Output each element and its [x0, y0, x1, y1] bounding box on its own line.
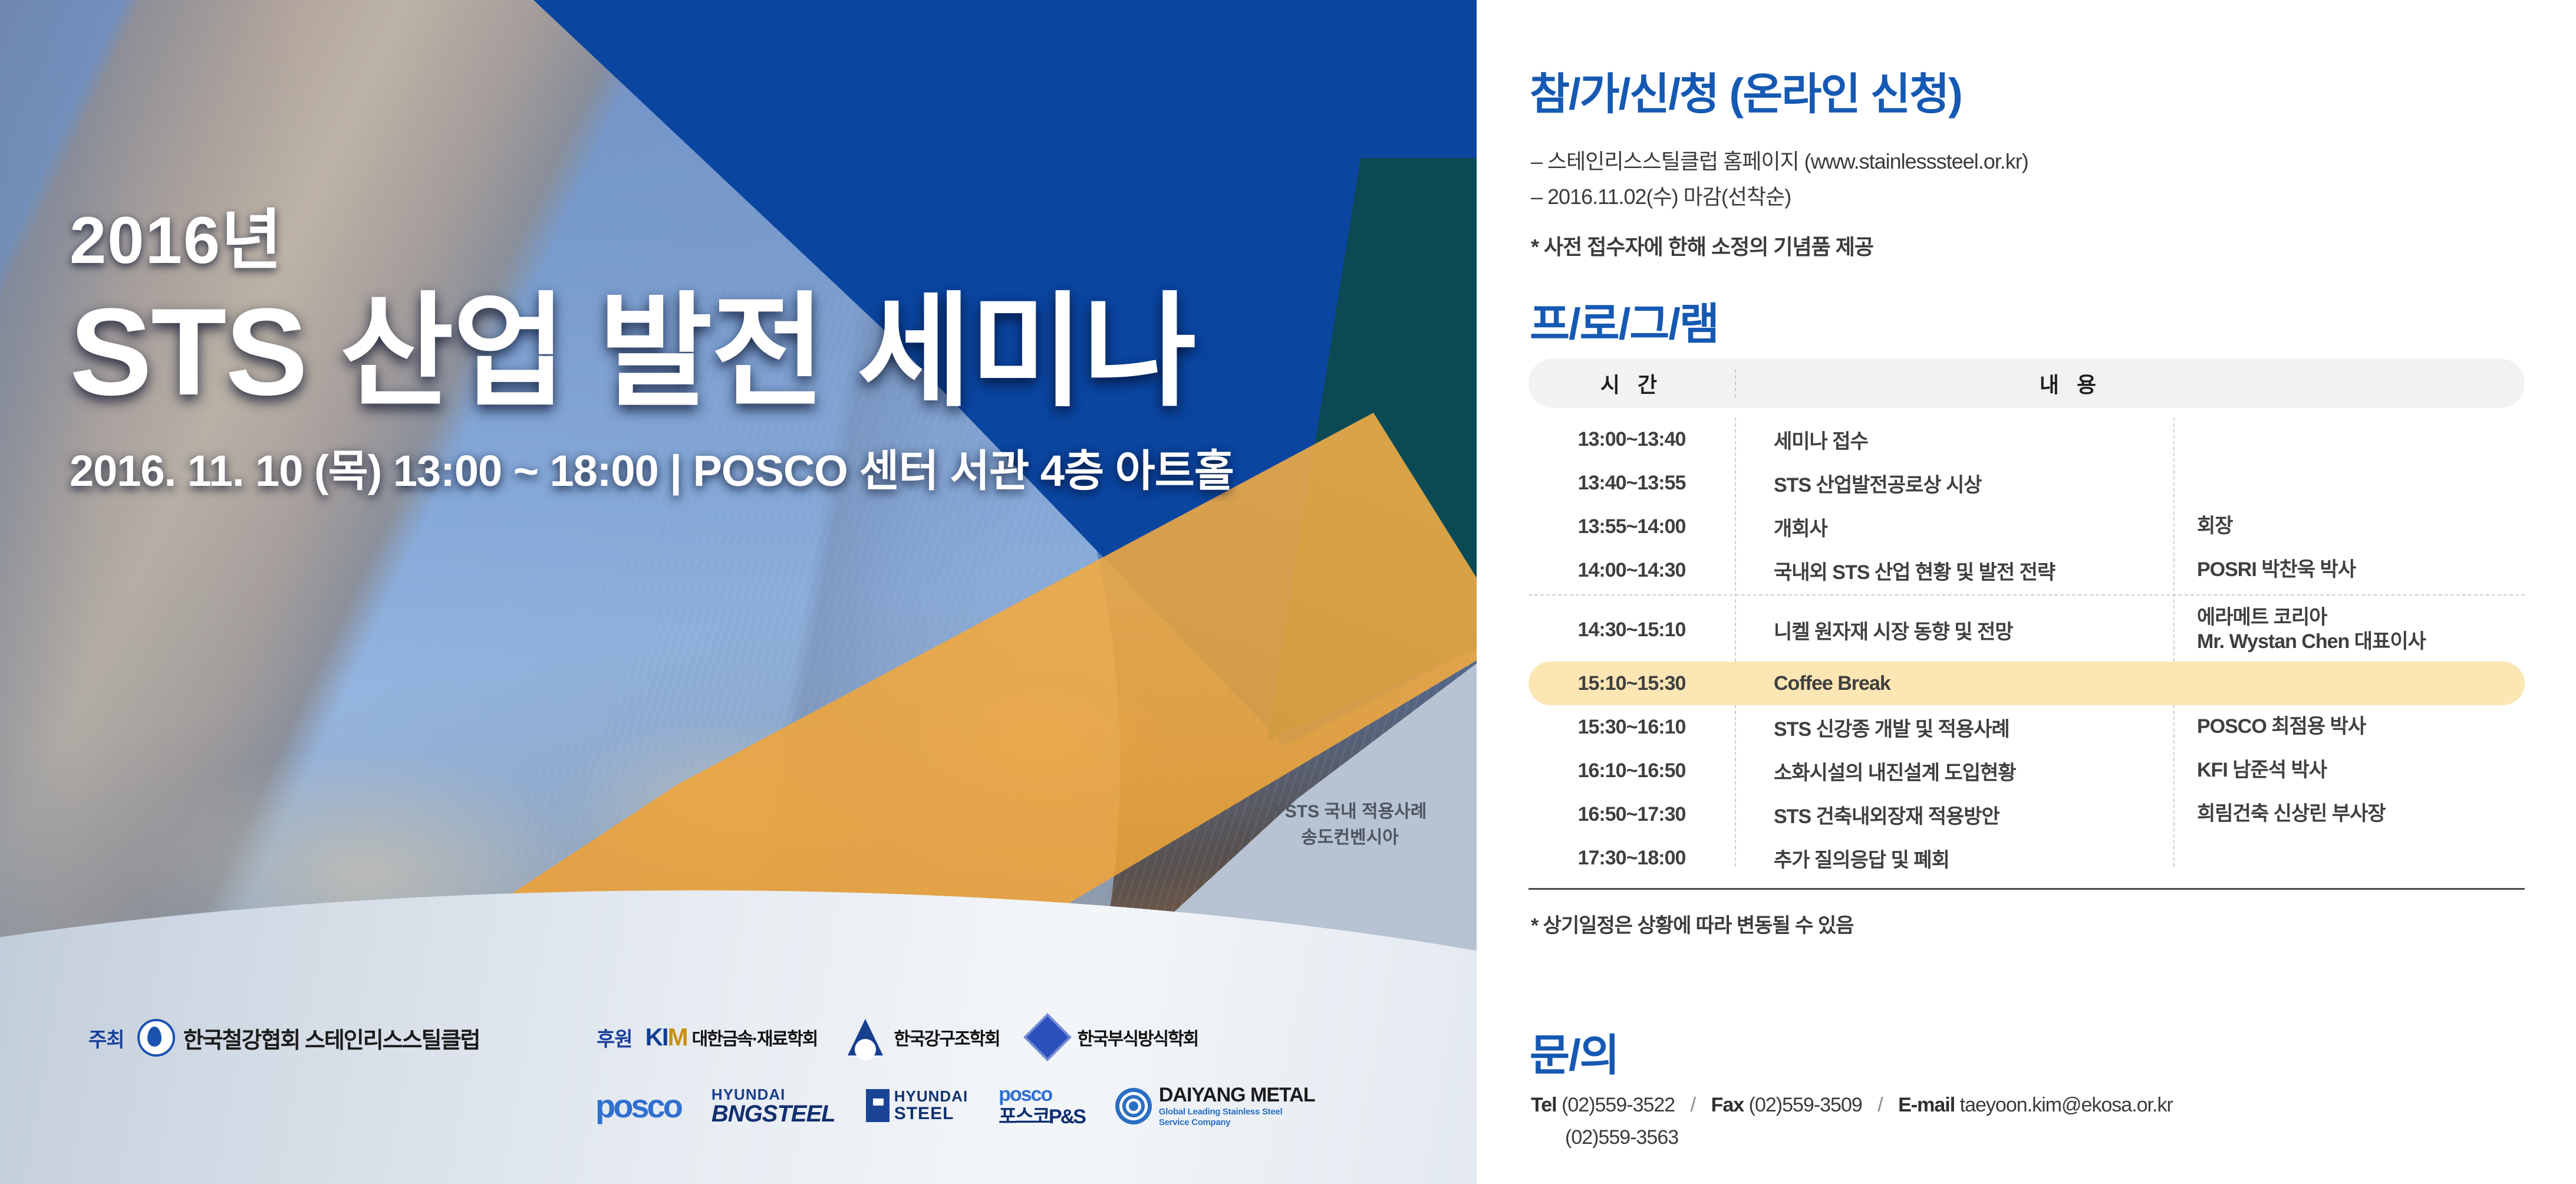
row-speaker: 에라메트 코리아Mr. Wystan Chen 대표이사: [2173, 606, 2525, 655]
hero-title-block: 2016년 STS 산업 발전 세미나 2016. 11. 10 (목) 13:…: [70, 208, 1366, 499]
contact-heading: 문/의: [1530, 1020, 1619, 1083]
column-header-content: 내 용: [1735, 368, 2525, 399]
row-description: 세미나 접수: [1735, 425, 2173, 454]
logo-daiyang-name: DAIYANG METAL: [1159, 1084, 1315, 1107]
row-time: 15:10~15:30: [1529, 672, 1735, 695]
table-row-separator: [1529, 594, 2525, 596]
hero-title: STS 산업 발전 세미나: [70, 287, 1366, 418]
table-row: 15:30~16:10STS 신강종 개발 및 적용사례POSCO 최점용 박사: [1529, 705, 2525, 749]
logo-pns-bottom: 포스코P&S: [999, 1106, 1085, 1128]
logo-pns-top: posco: [999, 1084, 1085, 1106]
daiyang-target-icon: [1115, 1088, 1152, 1124]
logo-posco-pns: posco 포스코P&S: [999, 1084, 1085, 1128]
logo-kim-name: 대한금속·재료학회: [692, 1024, 818, 1050]
table-row: 16:50~17:30STS 건축내외장재 적용방안희림건축 신상린 부사장: [1529, 792, 2525, 836]
tel-label: Tel: [1531, 1094, 1557, 1116]
tel-value: (02)559-3522: [1562, 1094, 1675, 1116]
table-row: 13:40~13:55STS 산업발전공로상 시상: [1529, 461, 2525, 505]
logo-daiyang-tagline-2: Service Company: [1159, 1117, 1315, 1128]
row-speaker: 희림건축 신상린 부사장: [2173, 802, 2525, 826]
kssc-triangle-icon: [848, 1019, 883, 1055]
logo-kim: KIM 대한금속·재료학회: [645, 1023, 818, 1051]
row-time: 16:50~17:30: [1529, 803, 1735, 826]
table-row: 15:10~15:30Coffee Break: [1529, 662, 2525, 705]
row-time: 15:30~16:10: [1529, 716, 1735, 739]
logo-posco-text: posco: [595, 1087, 681, 1125]
contact-line: Tel (02)559-3522 / Fax (02)559-3509 / E-…: [1531, 1094, 2173, 1117]
company-logo-row: posco HYUNDAI BNGSTEEL HYUNDAI STEEL: [595, 1084, 1346, 1128]
program-table-body: 13:00~13:40세미나 접수13:40~13:55STS 산업발전공로상 …: [1529, 417, 2525, 880]
hero-subtitle: 2016. 11. 10 (목) 13:00 ~ 18:00 | POSCO 센…: [70, 436, 1366, 499]
logo-hyundai-steel: HYUNDAI STEEL: [866, 1088, 968, 1123]
fax-label: Fax: [1711, 1094, 1744, 1116]
row-description: STS 신강종 개발 및 적용사례: [1735, 713, 2173, 742]
hero-year: 2016년: [70, 208, 1366, 274]
row-speaker: POSRI 박찬욱 박사: [2173, 558, 2525, 582]
info-panel: 참/가/신/청 (온라인 신청) – 스테인리스스틸클럽 홈페이지 (www.s…: [1477, 0, 2576, 1184]
row-time: 17:30~18:00: [1529, 847, 1735, 870]
photo-caption-line-2: 송도컨벤시아: [1253, 825, 1447, 851]
contact-separator-2: /: [1877, 1094, 1882, 1116]
row-time: 14:00~14:30: [1529, 559, 1735, 582]
logo-bng-steel: HYUNDAI BNGSTEEL: [711, 1087, 835, 1126]
logo-daiyang-tagline-1: Global Leading Stainless Steel: [1159, 1107, 1315, 1117]
apply-heading: 참/가/신/청 (온라인 신청): [1530, 59, 1962, 122]
row-speaker: KFI 남준석 박사: [2173, 758, 2525, 782]
email-value[interactable]: taeyoon.kim@ekosa.or.kr: [1960, 1094, 2173, 1116]
apply-bullet-1: – 스테인리스스틸클럽 홈페이지 (www.stainlesssteel.or.…: [1531, 144, 2028, 175]
table-row: 17:30~18:00추가 질의응답 및 폐회: [1529, 836, 2525, 880]
logo-bng-bottom: BNGSTEEL: [711, 1102, 835, 1126]
row-time: 13:55~14:00: [1529, 515, 1735, 538]
apply-bullet-2: – 2016.11.02(수) 마감(선착순): [1531, 180, 1791, 211]
program-note: * 상기일정은 상황에 따라 변동될 수 있음: [1531, 909, 1853, 938]
row-description: STS 건축내외장재 적용방안: [1735, 800, 2173, 829]
table-row: 14:30~15:10니켈 원자재 시장 동향 및 전망에라메트 코리아Mr. …: [1529, 598, 2525, 662]
logo-kssc: 한국강구조학회: [848, 1019, 999, 1055]
apply-note: * 사전 접수자에 한해 소정의 기념품 제공: [1531, 230, 1873, 261]
program-heading: 프/로/그/램: [1530, 289, 1718, 352]
logo-cssk: 한국부식방식학회: [1030, 1020, 1198, 1054]
email-label: E-mail: [1898, 1094, 1955, 1116]
logo-cssk-name: 한국부식방식학회: [1078, 1024, 1198, 1050]
column-header-time: 시 간: [1529, 368, 1735, 399]
table-row: 16:10~16:50소화시설의 내진설계 도입현황KFI 남준석 박사: [1529, 749, 2525, 792]
poster-root: 2016년 STS 산업 발전 세미나 2016. 11. 10 (목) 13:…: [0, 0, 2576, 1184]
photo-caption: * STS 국내 적용사례 송도컨벤시아: [1253, 799, 1447, 850]
support-label: 후원: [597, 1023, 633, 1052]
host-label: 주최: [88, 1024, 124, 1053]
logo-hyundai-top: HYUNDAI: [894, 1088, 968, 1104]
row-speaker: 회장: [2173, 514, 2525, 538]
hyundai-h-icon: [866, 1089, 890, 1122]
host-row: 주최 한국철강협회 스테인리스스틸클럽: [88, 1019, 480, 1057]
logo-hyundai-bottom: STEEL: [894, 1104, 968, 1123]
host-name: 한국철강협회 스테인리스스틸클럽: [183, 1022, 480, 1054]
logo-posco: posco: [595, 1087, 681, 1125]
logo-kssc-name: 한국강구조학회: [894, 1024, 999, 1050]
table-bottom-rule: [1529, 888, 2525, 890]
photo-caption-line-1: * STS 국내 적용사례: [1253, 799, 1447, 825]
tel-secondary: (02)559-3563: [1565, 1126, 1678, 1149]
program-table-header: 시 간 내 용: [1529, 359, 2525, 408]
contact-separator-1: /: [1691, 1094, 1695, 1116]
row-description: 니켈 원자재 시장 동향 및 전망: [1735, 616, 2173, 644]
row-description: 국내외 STS 산업 현황 및 발전 전략: [1735, 556, 2173, 585]
row-description: 개회사: [1735, 512, 2173, 541]
logo-daiyang-metal: DAIYANG METAL Global Leading Stainless S…: [1115, 1084, 1315, 1128]
table-row: 13:55~14:00개회사회장: [1529, 505, 2525, 548]
row-description: 추가 질의응답 및 폐회: [1735, 844, 2173, 873]
kosa-seal-icon: [137, 1019, 175, 1057]
cssk-diamond-icon: [1023, 1013, 1072, 1061]
support-row: 후원 KIM 대한금속·재료학회 한국강구조학회 한국부식방식학회: [597, 1019, 1228, 1055]
program-table: 시 간 내 용 13:00~13:40세미나 접수13:40~13:55STS …: [1529, 359, 2525, 880]
row-time: 16:10~16:50: [1529, 759, 1735, 782]
row-description: 소화시설의 내진설계 도입현황: [1735, 757, 2173, 785]
row-time: 13:40~13:55: [1529, 472, 1735, 495]
row-speaker: POSCO 최점용 박사: [2173, 715, 2525, 739]
row-description: Coffee Break: [1735, 672, 2173, 695]
fax-value: (02)559-3509: [1749, 1094, 1862, 1116]
row-time: 13:00~13:40: [1529, 428, 1735, 451]
table-row: 13:00~13:40세미나 접수: [1529, 417, 2525, 461]
table-row: 14:00~14:30국내외 STS 산업 현황 및 발전 전략POSRI 박찬…: [1529, 548, 2525, 592]
logo-bng-top: HYUNDAI: [711, 1087, 835, 1102]
row-time: 14:30~15:10: [1529, 619, 1735, 642]
hero-panel: 2016년 STS 산업 발전 세미나 2016. 11. 10 (목) 13:…: [0, 0, 1477, 1184]
row-description: STS 산업발전공로상 시상: [1735, 469, 2173, 498]
